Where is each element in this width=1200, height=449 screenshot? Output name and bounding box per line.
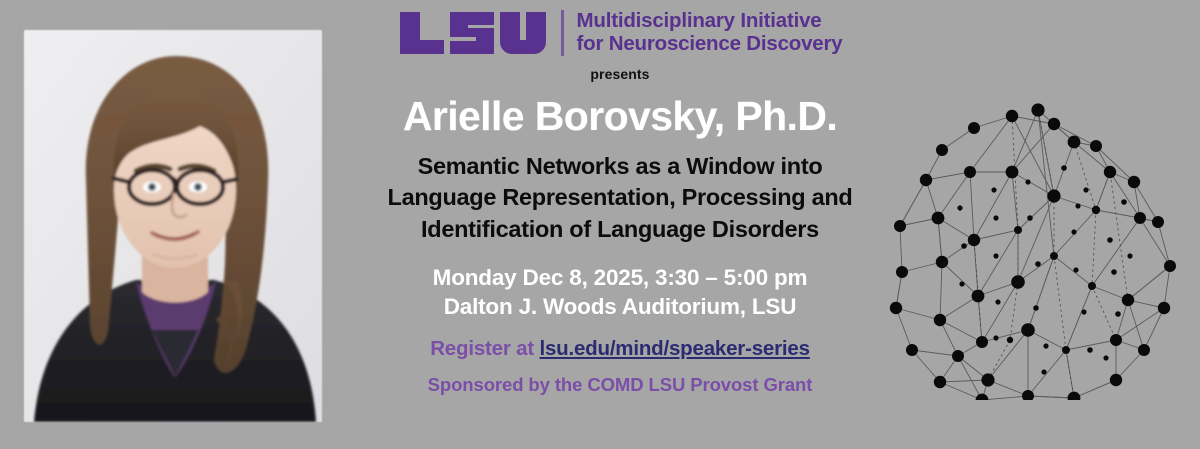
register-line: Register at lsu.edu/mind/speaker-series <box>330 337 910 361</box>
talk-title-line-2: Language Representation, Processing and <box>330 182 910 213</box>
talk-title-line-1: Semantic Networks as a Window into <box>330 151 910 182</box>
avatar <box>24 30 322 422</box>
register-link[interactable]: lsu.edu/mind/speaker-series <box>539 337 809 360</box>
presents-label: presents <box>330 66 910 82</box>
content-column: Multidisciplinary Initiative for Neurosc… <box>330 0 910 449</box>
semantic-network-graph <box>878 50 1188 400</box>
talk-title-line-3: Identification of Language Disorders <box>330 214 910 245</box>
talk-title: Semantic Networks as a Window into Langu… <box>330 151 910 245</box>
sponsor-line: Sponsored by the COMD LSU Provost Grant <box>330 374 910 396</box>
speaker-name: Arielle Borovsky, Ph.D. <box>330 95 910 138</box>
tagline-line-1: Multidisciplinary Initiative <box>577 10 843 33</box>
event-datetime: Monday Dec 8, 2025, 3:30 – 5:00 pm <box>330 263 910 292</box>
tagline-line-2: for Neuroscience Discovery <box>577 33 843 56</box>
event-location: Dalton J. Woods Auditorium, LSU <box>330 292 910 321</box>
logo-tagline: Multidisciplinary Initiative for Neurosc… <box>577 10 843 56</box>
event-banner: Multidisciplinary Initiative for Neurosc… <box>0 0 1200 449</box>
register-prefix: Register at <box>430 337 539 360</box>
speaker-photo-frame <box>24 30 322 422</box>
logo-divider <box>561 10 564 56</box>
lsu-wordmark-icon <box>398 10 548 56</box>
lsu-mind-logo: Multidisciplinary Initiative for Neurosc… <box>330 0 910 59</box>
